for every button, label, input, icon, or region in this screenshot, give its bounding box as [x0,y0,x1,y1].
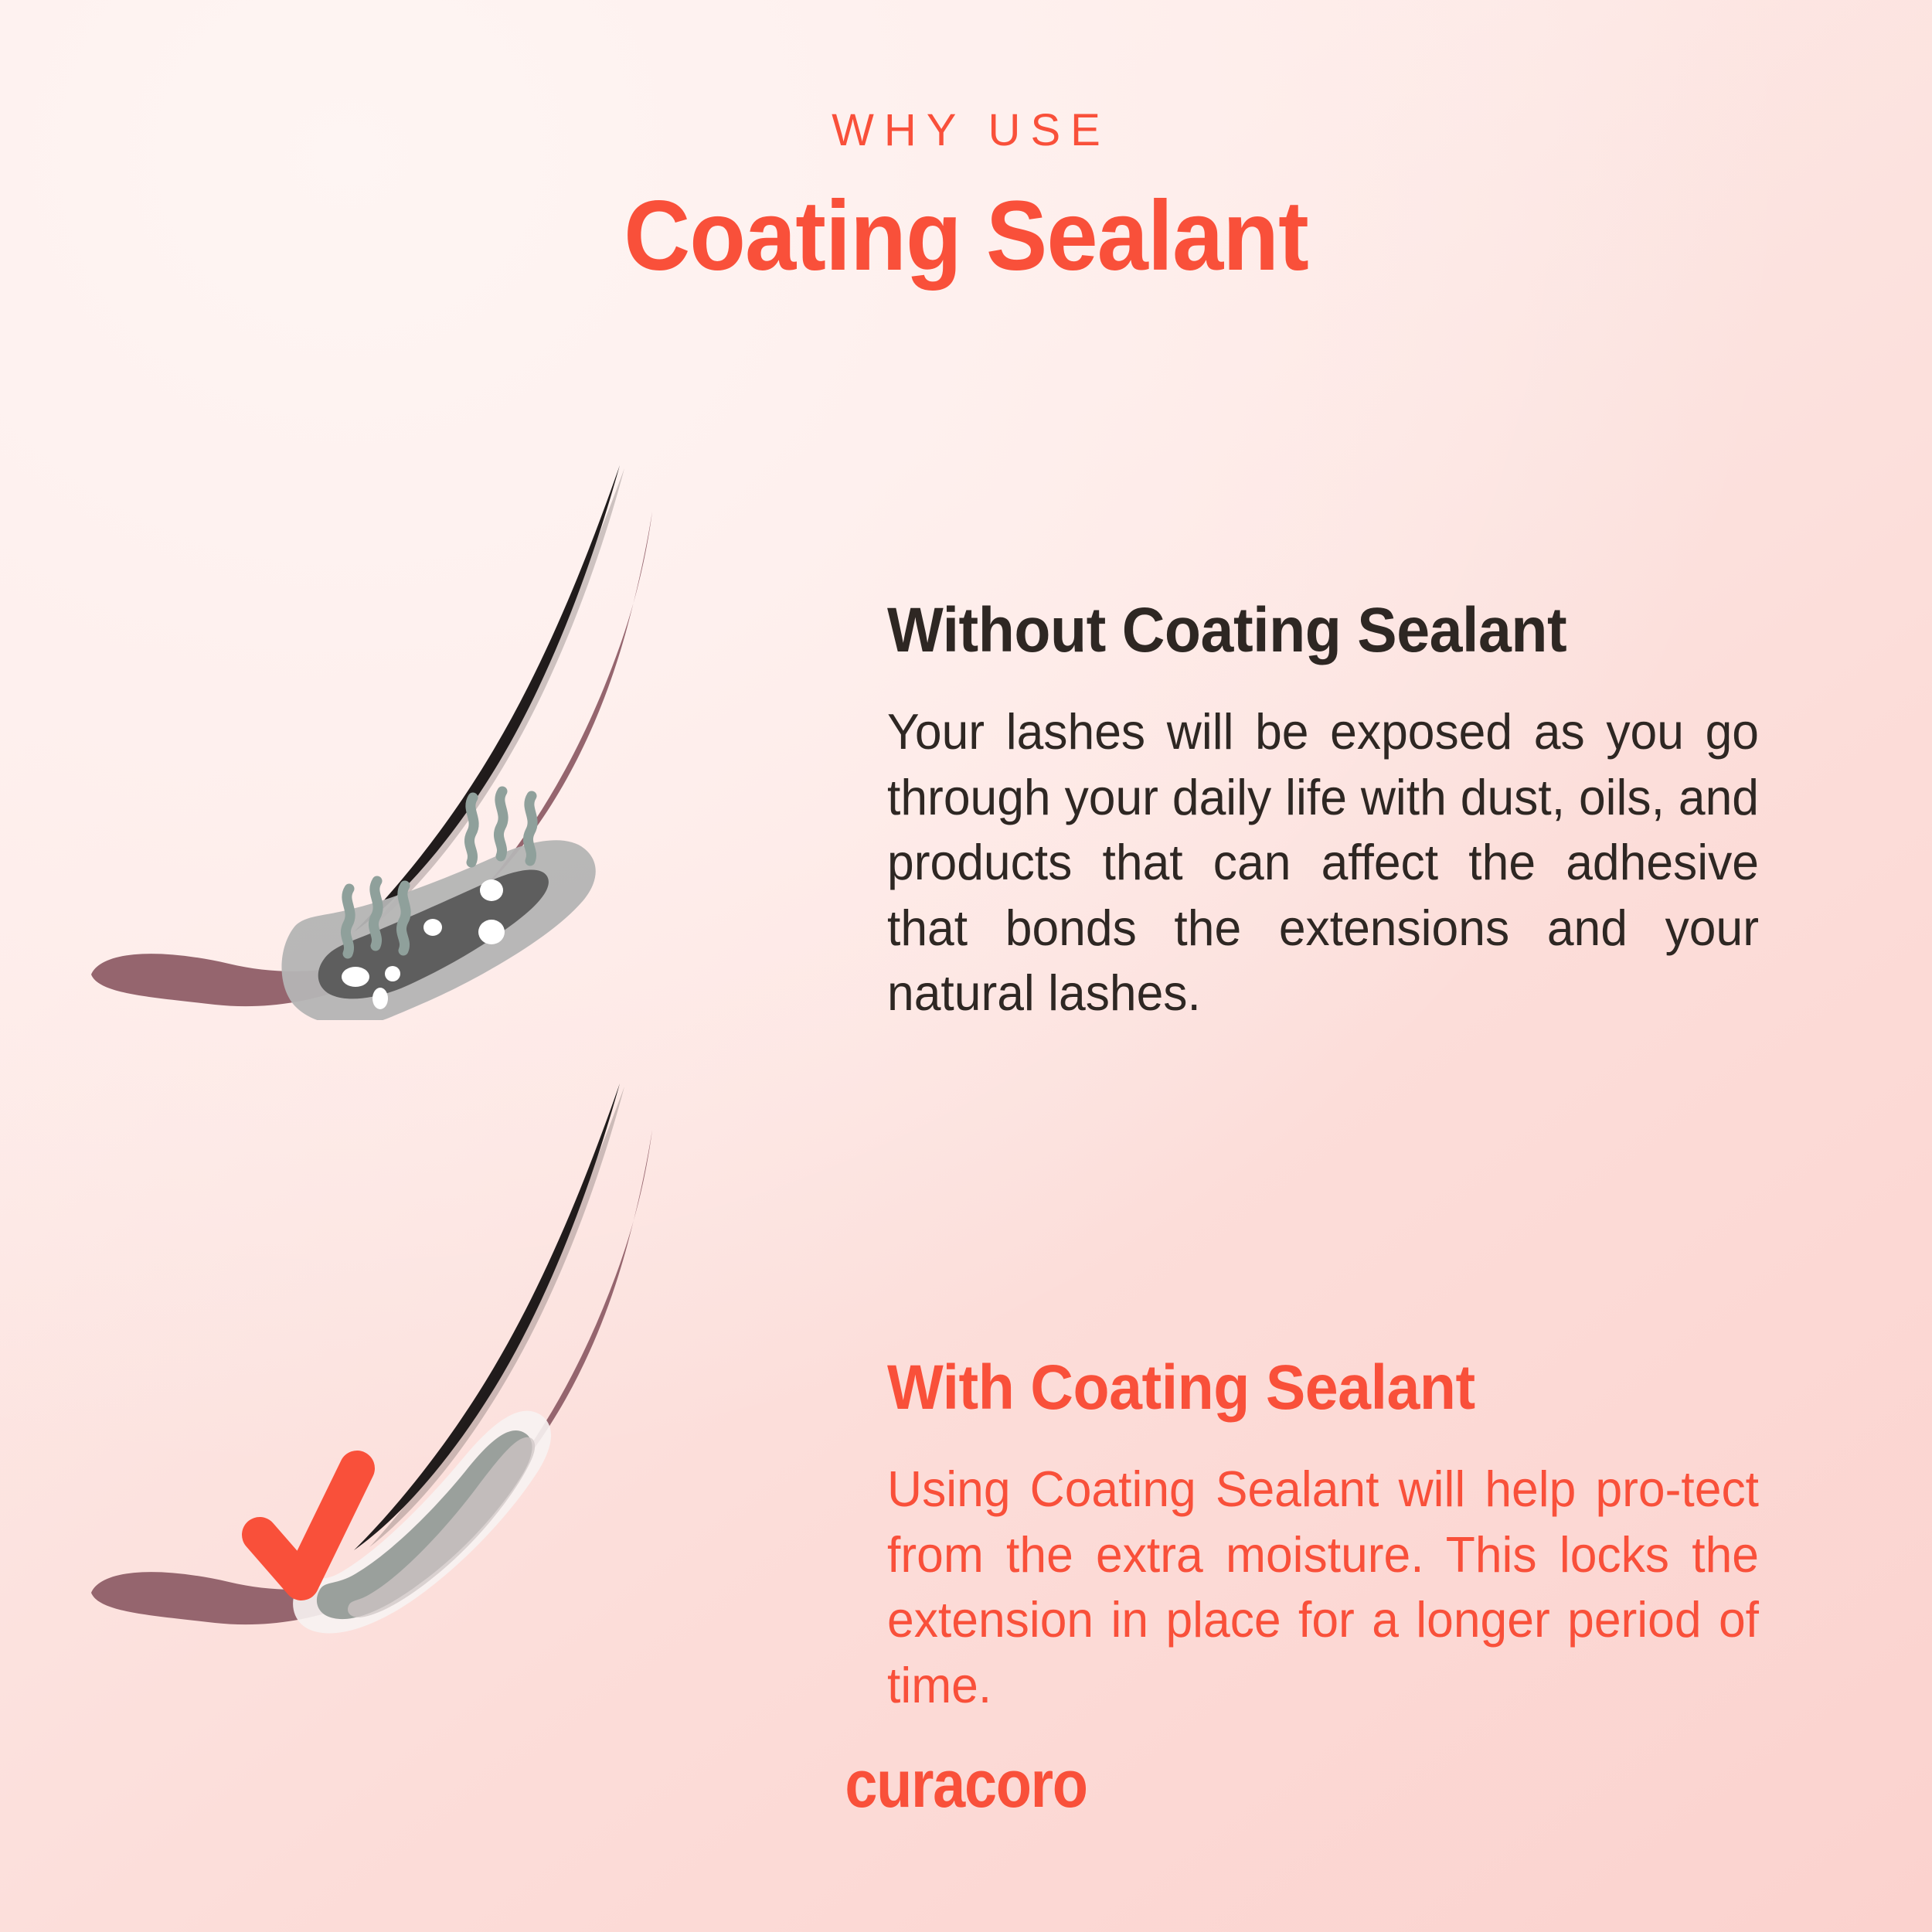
section-body-without: Your lashes will be exposed as you go th… [887,699,1759,1026]
illustration-lash-with-dirty-adhesive [46,464,835,1020]
page-title: Coating Sealant [68,184,1865,289]
adhesive-speck-dot [385,966,400,981]
section-heading-with: With Coating Sealant [887,1356,1759,1420]
infographic-poster: WHY USE Coating Sealant [0,0,1932,1932]
adhesive-speck-dot [478,920,505,944]
illustration-lash-with-sealant-coating [46,1082,835,1638]
natural-lash-path [91,1130,652,1624]
checkmark-icon [260,1468,357,1583]
poster-header: WHY USE Coating Sealant [0,0,1932,289]
adhesive-speck-dot [372,988,388,1009]
section-heading-without: Without Coating Sealant [887,599,1759,662]
adhesive-speck-dot [423,919,442,936]
section-body-with: Using Coating Sealant will help pro-tect… [887,1457,1759,1718]
section-without-coating-sealant: Without Coating Sealant Your lashes will… [0,464,1932,1020]
poster-footer: curacoro [0,1751,1932,1932]
eyebrow-label: WHY USE [0,108,1932,153]
section-with-coating-sealant: With Coating Sealant Using Coating Seala… [0,1082,1932,1638]
adhesive-speck-dot [480,879,503,901]
adhesive-speck-dot [342,967,369,987]
section-copy-with: With Coating Sealant Using Coating Seala… [887,1356,1815,1718]
brand-logo: curacoro [845,1751,1087,1818]
section-copy-without: Without Coating Sealant Your lashes will… [887,599,1815,1026]
